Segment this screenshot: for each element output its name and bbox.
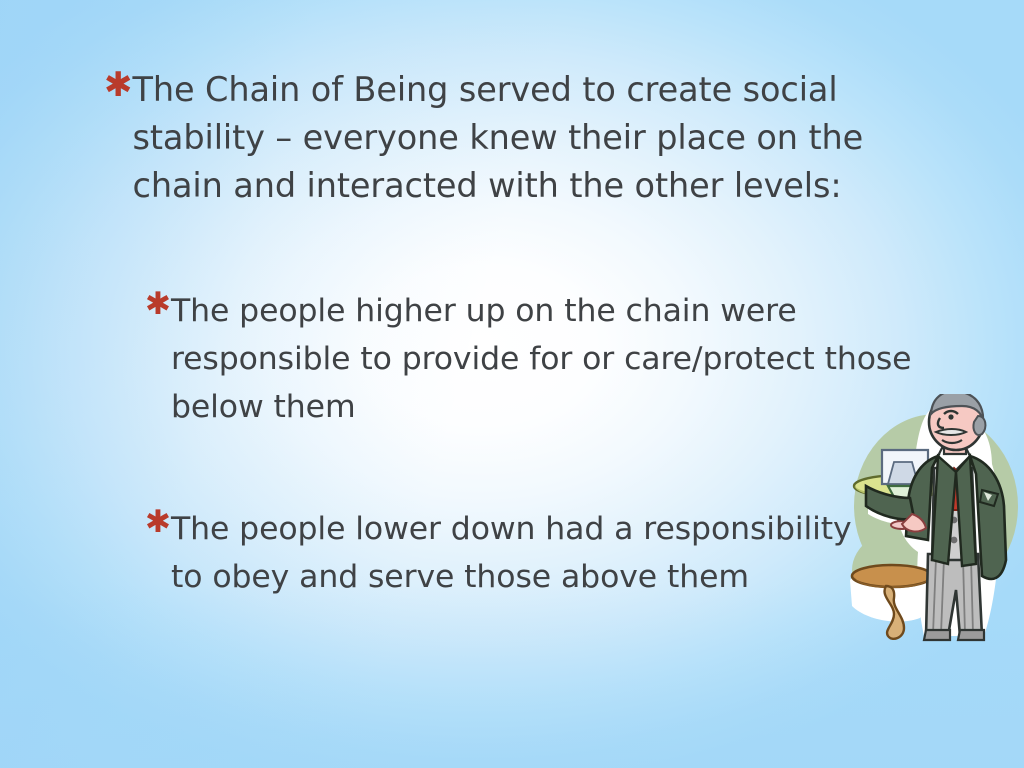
asterisk-bullet-icon: ✱	[104, 68, 133, 102]
bullet-level2-first-text: The people higher up on the chain were r…	[171, 287, 931, 431]
bullet-level2-second: ✱ The people lower down had a responsibi…	[145, 505, 945, 601]
slide-canvas: ✱ The Chain of Being served to create so…	[0, 0, 1024, 768]
bullet-level1-text: The Chain of Being served to create soci…	[133, 66, 928, 210]
bullet-level2-first: ✱ The people higher up on the chain were…	[145, 287, 945, 431]
asterisk-bullet-icon: ✱	[145, 507, 171, 538]
asterisk-bullet-icon: ✱	[145, 289, 171, 320]
bullet-level2-second-text: The people lower down had a responsibili…	[171, 505, 891, 601]
bullet-level1: ✱ The Chain of Being served to create so…	[104, 66, 934, 210]
slide-body: ✱ The Chain of Being served to create so…	[0, 0, 1024, 768]
